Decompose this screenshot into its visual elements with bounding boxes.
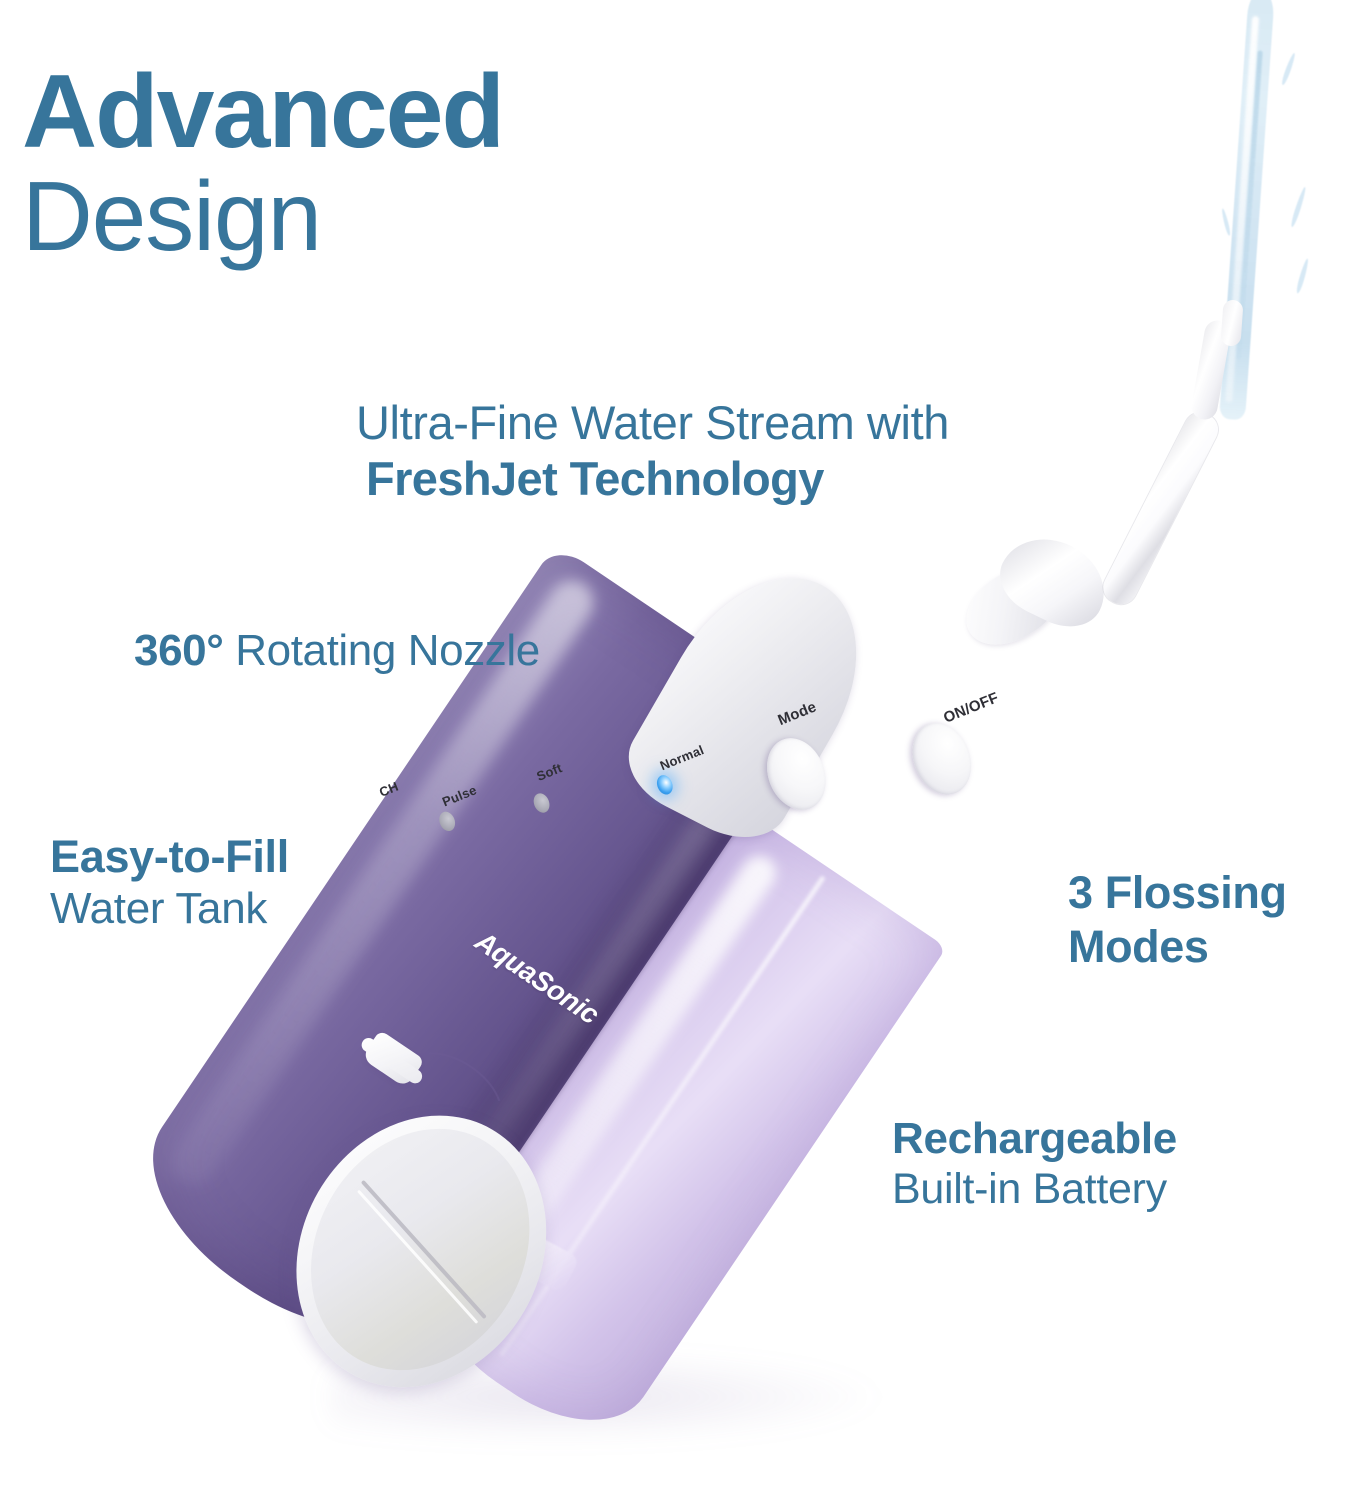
water-droplet-icon — [1221, 208, 1232, 236]
feature-battery-bold: Rechargeable — [892, 1114, 1177, 1163]
power-button-label: ON/OFF — [941, 689, 1001, 726]
nozzle-base-flare — [988, 522, 1119, 639]
base-cap-ring — [248, 1070, 595, 1433]
tank-seam — [498, 875, 825, 1357]
feature-rotating-nozzle-bold: 360° — [134, 626, 223, 675]
marketing-image-canvas: Advanced Design Ultra-Fine Water Stream … — [0, 0, 1346, 1500]
nozzle-tip — [1220, 299, 1243, 346]
feature-flossing-modes-text: Modes — [1068, 921, 1209, 972]
subheadline: Ultra-Fine Water Stream with FreshJet Te… — [356, 398, 1116, 504]
base-cap-seam-highlight — [357, 1190, 478, 1324]
power-button[interactable] — [902, 714, 981, 804]
water-droplet-icon — [1280, 52, 1296, 86]
led-normal-label: Normal — [658, 742, 706, 773]
water-droplet-icon — [1290, 186, 1308, 227]
subheadline-line-2: FreshJet Technology — [356, 454, 1116, 504]
device-base-cap — [242, 1068, 611, 1446]
device-body-highlight-secondary — [387, 743, 766, 1288]
feature-water-tank-bold: Easy-to-Fill — [50, 832, 289, 882]
headline-line-2: Design — [22, 168, 503, 264]
mode-button-label: Mode — [775, 698, 818, 729]
tank-release-seam — [386, 1035, 518, 1156]
feature-battery: Rechargeable Built-in Battery — [892, 1114, 1177, 1213]
nozzle-bend — [1190, 319, 1233, 422]
base-cap-seam — [361, 1180, 487, 1319]
water-droplet-icon — [1295, 258, 1310, 294]
headline-line-1: Advanced — [22, 62, 503, 164]
water-stream-icon — [1219, 0, 1275, 420]
led-pulse-indicator — [436, 809, 457, 833]
mode-button[interactable] — [757, 729, 836, 819]
tank-highlight — [453, 849, 783, 1316]
tank-notch — [503, 1227, 580, 1293]
led-charge-label: CH — [377, 779, 400, 800]
control-panel-face — [611, 546, 897, 856]
nozzle-collar — [952, 549, 1075, 660]
base-cap-inner — [268, 1089, 572, 1410]
device-body-shading — [305, 672, 813, 1372]
led-soft-indicator — [531, 791, 552, 815]
led-normal-indicator — [654, 773, 675, 797]
control-panel: ON/OFF Mode Normal Soft Pulse CH — [601, 542, 1007, 944]
led-soft-label: Soft — [534, 760, 564, 784]
tank-release-latch[interactable] — [361, 1030, 425, 1088]
brand-logo: AquaSonic — [469, 925, 604, 1031]
water-tank — [405, 813, 946, 1455]
product-shadow — [330, 1352, 890, 1442]
feature-flossing-modes: 3 Flossing Modes — [1068, 866, 1287, 974]
subheadline-line-1: Ultra-Fine Water Stream with — [356, 398, 1116, 448]
page-title: Advanced Design — [22, 62, 503, 264]
feature-water-tank-text: Water Tank — [50, 884, 289, 933]
feature-rotating-nozzle-text: Rotating Nozzle — [223, 626, 539, 675]
feature-flossing-modes-bold: 3 Flossing — [1068, 867, 1287, 918]
feature-battery-text: Built-in Battery — [892, 1165, 1177, 1213]
feature-rotating-nozzle: 360° Rotating Nozzle — [134, 626, 540, 675]
nozzle-tube — [1098, 407, 1224, 610]
led-pulse-label: Pulse — [440, 782, 479, 809]
feature-water-tank: Easy-to-Fill Water Tank — [50, 832, 289, 934]
